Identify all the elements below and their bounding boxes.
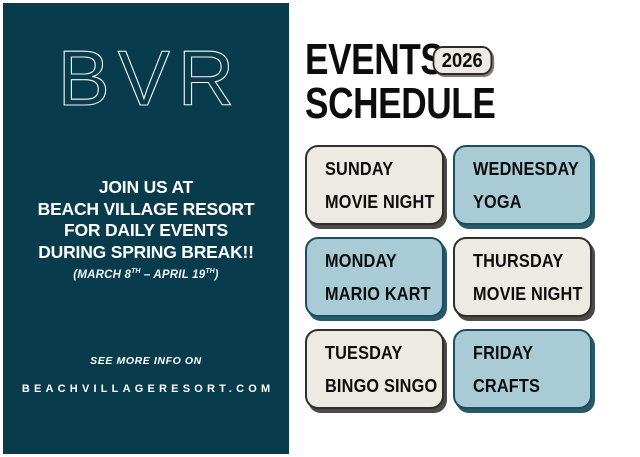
schedule-panel: EVENTS 2026 SCHEDULE SUNDAY MOVIE NIGHT …: [289, 0, 640, 457]
event-day-label: FRIDAY: [473, 343, 576, 362]
event-activity-label: MOVIE NIGHT: [473, 284, 576, 303]
event-day-label: WEDNESDAY: [473, 159, 576, 178]
title-line-events: EVENTS: [305, 40, 443, 80]
event-date-range: (MARCH 8TH – APRIL 19TH): [17, 268, 275, 281]
event-activity-label: MOVIE NIGHT: [325, 192, 428, 211]
event-card-tuesday[interactable]: TUESDAY BINGO SINGO: [305, 329, 444, 409]
event-day-label: THURSDAY: [473, 251, 576, 270]
website-url[interactable]: BEACHVILLAGERESORT.COM: [3, 383, 289, 395]
year-badge: 2026: [433, 46, 492, 75]
invite-line-4: DURING SPRING BREAK!!: [17, 242, 275, 264]
event-activity-label: YOGA: [473, 192, 576, 211]
page-title: EVENTS 2026 SCHEDULE: [305, 38, 635, 130]
event-card-wednesday[interactable]: WEDNESDAY YOGA: [453, 145, 592, 225]
date-ordinal-second: TH: [205, 268, 214, 275]
brand-logo-bvr: BVR: [3, 39, 289, 117]
invite-line-1: JOIN US AT: [17, 177, 275, 199]
event-card-friday[interactable]: FRIDAY CRAFTS: [453, 329, 592, 409]
event-card-sunday[interactable]: SUNDAY MOVIE NIGHT: [305, 145, 444, 225]
brand-panel: BVR JOIN US AT BEACH VILLAGE RESORT FOR …: [3, 3, 289, 454]
date-range-close: ): [215, 269, 219, 281]
invitation-block: JOIN US AT BEACH VILLAGE RESORT FOR DAIL…: [3, 177, 289, 281]
title-row-schedule: SCHEDULE: [305, 82, 635, 126]
event-day-label: SUNDAY: [325, 159, 428, 178]
title-line-schedule: SCHEDULE: [305, 84, 495, 124]
event-card-monday[interactable]: MONDAY MARIO KART: [305, 237, 444, 317]
invite-line-3: FOR DAILY EVENTS: [17, 220, 275, 242]
event-activity-label: MARIO KART: [325, 284, 428, 303]
date-range-middle: – APRIL 19: [140, 269, 205, 281]
events-schedule-poster: BVR JOIN US AT BEACH VILLAGE RESORT FOR …: [0, 0, 640, 457]
event-activity-label: CRAFTS: [473, 376, 576, 395]
event-day-label: MONDAY: [325, 251, 428, 270]
more-info-label: SEE MORE INFO ON: [3, 355, 289, 367]
more-info-block: SEE MORE INFO ON BEACHVILLAGERESORT.COM: [3, 355, 289, 395]
event-card-thursday[interactable]: THURSDAY MOVIE NIGHT: [453, 237, 592, 317]
date-range-open: (MARCH 8: [73, 269, 131, 281]
title-row-events: EVENTS 2026: [305, 38, 635, 82]
event-card-grid: SUNDAY MOVIE NIGHT WEDNESDAY YOGA MONDAY…: [305, 145, 605, 409]
event-activity-label: BINGO SINGO: [325, 376, 428, 395]
invite-line-2: BEACH VILLAGE RESORT: [17, 199, 275, 221]
event-day-label: TUESDAY: [325, 343, 428, 362]
